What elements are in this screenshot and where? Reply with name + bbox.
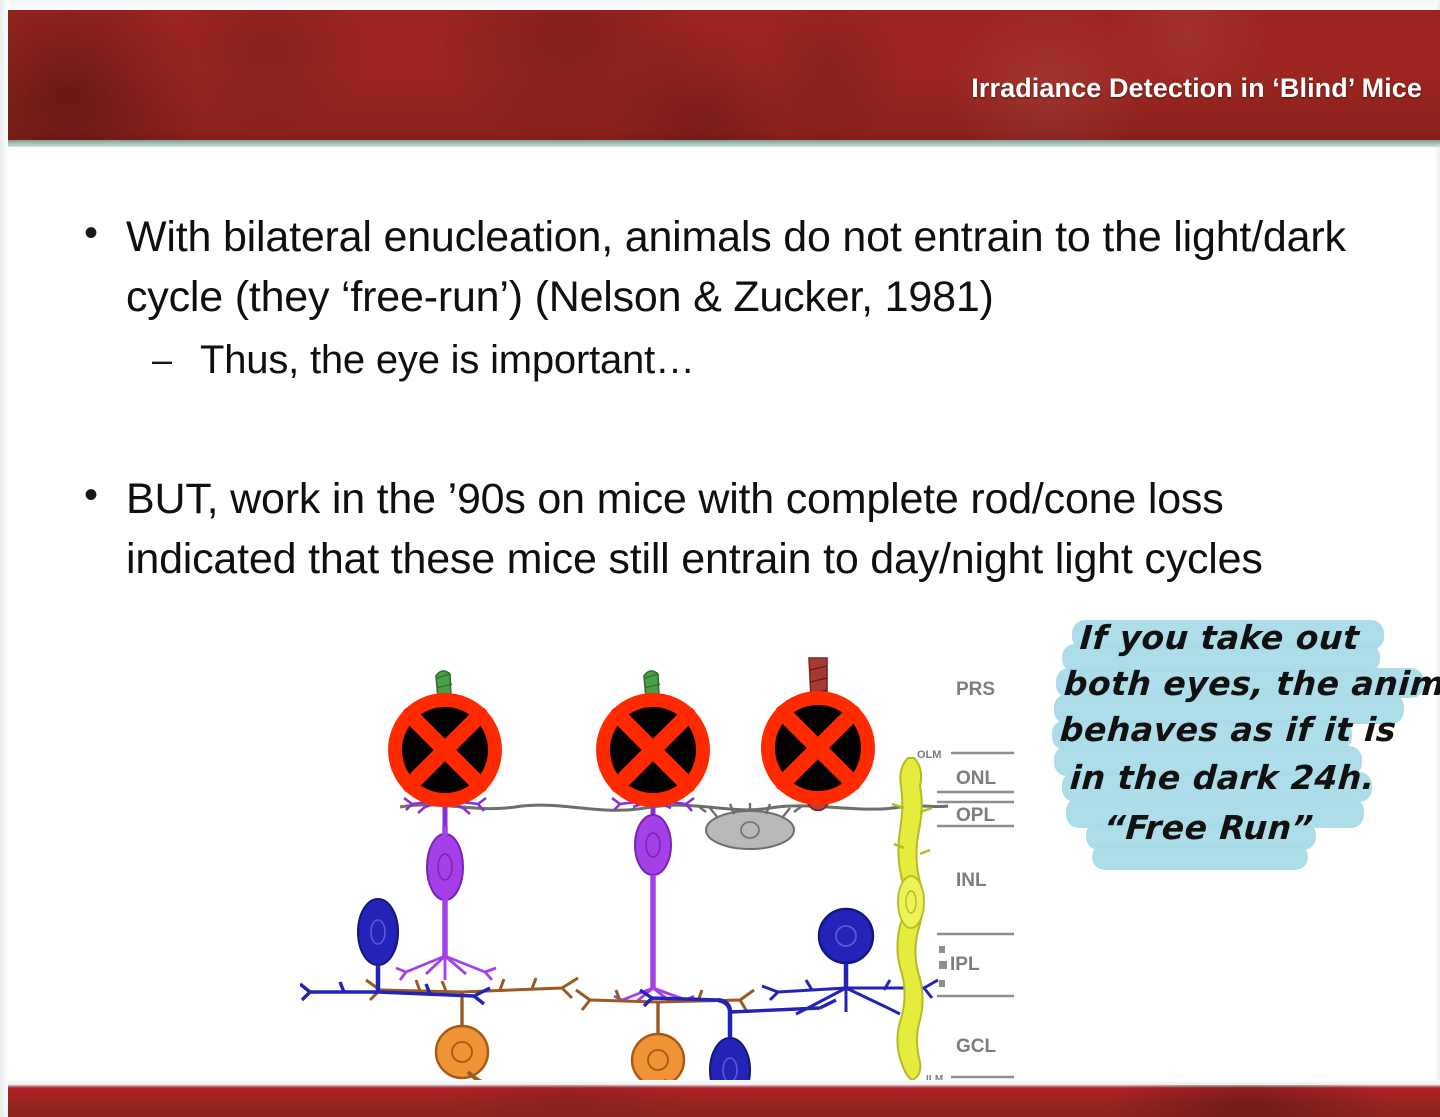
rod-cell-2 — [603, 671, 703, 1002]
layer-label-onl: ONL — [956, 768, 997, 789]
bullet-item-2: • BUT, work in the ’90s on mice with com… — [78, 469, 1328, 589]
layer-label-olm: OLM — [917, 749, 941, 761]
annotation-line-1: If you take out — [1079, 618, 1361, 657]
cone-cell-crossout-icon — [768, 698, 868, 798]
sub-bullet-marker: – — [152, 333, 200, 387]
rod-cell-2-crossout-icon — [603, 700, 703, 800]
bullet-marker: • — [78, 469, 126, 521]
layer-label-inl: INL — [956, 870, 987, 891]
layer-label-gcl: GCL — [956, 1036, 997, 1057]
rod-cell-1-crossout-icon — [395, 700, 495, 800]
annotation-line-4: in the dark 24h. — [1069, 758, 1377, 797]
page-title: Irradiance Detection in ‘Blind’ Mice — [971, 73, 1422, 104]
bullet-text: BUT, work in the ’90s on mice with compl… — [126, 469, 1328, 589]
slide-canvas: Irradiance Detection in ‘Blind’ Mice • W… — [0, 0, 1440, 1117]
layer-label-group: PRS OLM ONL OPL INL IPL GCL ILM — [917, 679, 997, 1085]
retina-diagram: PRS OLM ONL OPL INL IPL GCL ILM — [300, 640, 1020, 1100]
annotation-line-2: both eyes, the animal — [1063, 664, 1440, 703]
sub-bullet-item-1: – Thus, the eye is important… — [152, 333, 1352, 387]
sub-bullet-text: Thus, the eye is important… — [200, 333, 695, 387]
layer-label-opl: OPL — [956, 805, 995, 826]
layer-label-ipl: IPL — [950, 954, 980, 975]
layer-label-prs: PRS — [956, 679, 995, 700]
annotation-line-5: “Free Run” — [1103, 808, 1315, 847]
layer-boundary-lines — [937, 753, 1014, 1077]
highlighter-stroke — [1092, 844, 1308, 870]
handwritten-annotation: If you take out both eyes, the animal be… — [1058, 612, 1438, 880]
slide-header-banner: Irradiance Detection in ‘Blind’ Mice — [8, 10, 1440, 147]
rod-cell-1 — [395, 671, 496, 980]
bullet-item-1: • With bilateral enucleation, animals do… — [78, 207, 1368, 327]
bullet-text: With bilateral enucleation, animals do n… — [126, 207, 1368, 327]
horizontal-cell — [698, 803, 802, 849]
bullet-marker: • — [78, 207, 126, 259]
cone-cell — [768, 658, 868, 810]
page-edge-top — [0, 0, 1440, 10]
bipolar-terminal-arbor-1 — [396, 956, 496, 980]
annotation-line-3: behaves as if it is — [1059, 710, 1398, 749]
ganglion-cell-left — [300, 899, 490, 1004]
ipl-sublayer-ticks — [939, 946, 947, 987]
next-slide-banner-edge — [8, 1085, 1440, 1117]
